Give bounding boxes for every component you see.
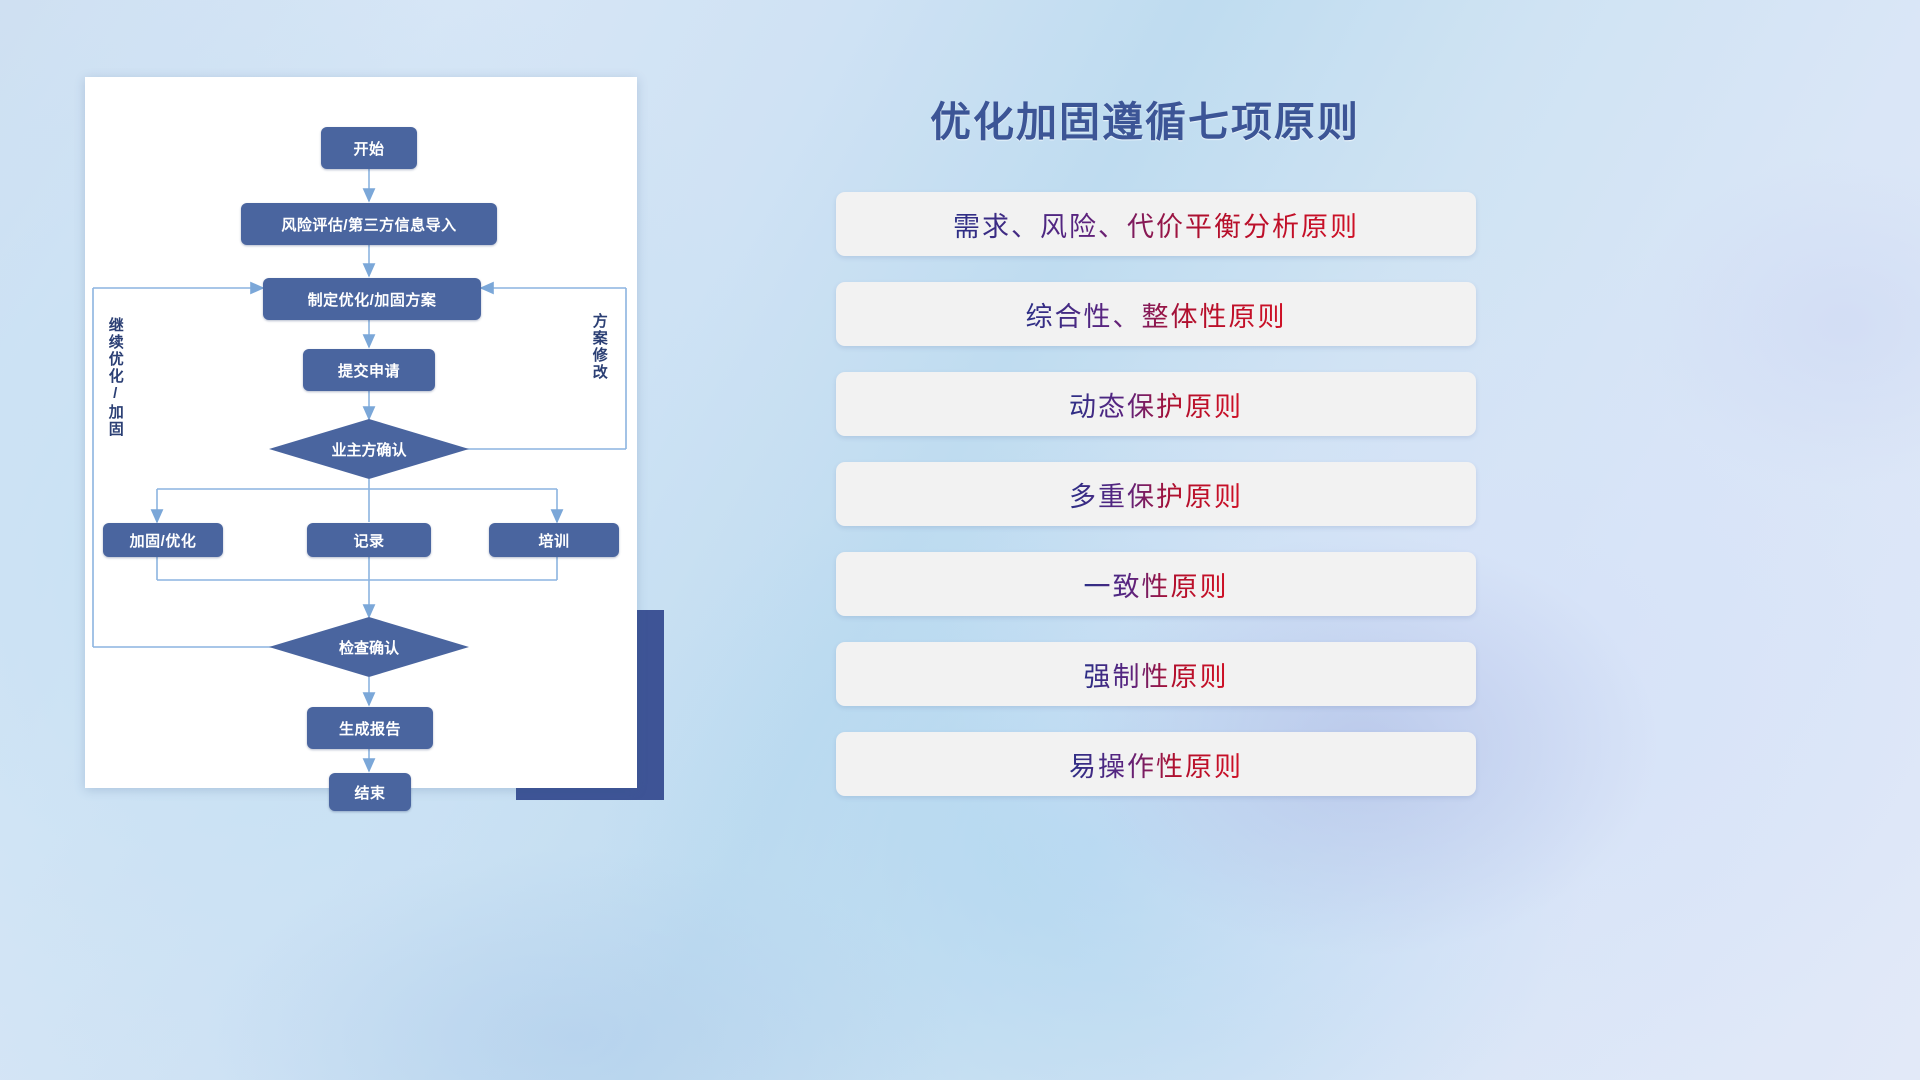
principle-label: 易操作性原则 bbox=[1069, 745, 1243, 784]
principle-item[interactable]: 易操作性原则 bbox=[836, 732, 1476, 796]
flow-edge-label-left: 继续优化/加固 bbox=[107, 317, 123, 438]
flow-edge-label-right: 方案修改 bbox=[591, 313, 607, 381]
flow-node-label: 开始 bbox=[353, 138, 384, 159]
principle-item[interactable]: 需求、风险、代价平衡分析原则 bbox=[836, 192, 1476, 256]
principle-item[interactable]: 强制性原则 bbox=[836, 642, 1476, 706]
flow-node-label: 培训 bbox=[538, 530, 569, 551]
principle-label: 强制性原则 bbox=[1084, 655, 1229, 694]
flow-node-label: 生成报告 bbox=[339, 718, 401, 739]
page-title: 优化加固遵循七项原则 bbox=[930, 88, 1490, 148]
flow-node-training[interactable]: 培训 bbox=[489, 523, 619, 557]
principle-item[interactable]: 综合性、整体性原则 bbox=[836, 282, 1476, 346]
principle-item[interactable]: 一致性原则 bbox=[836, 552, 1476, 616]
flow-node-label: 制定优化/加固方案 bbox=[308, 289, 437, 310]
principle-label: 动态保护原则 bbox=[1069, 385, 1243, 424]
flow-node-label: 风险评估/第三方信息导入 bbox=[281, 214, 456, 235]
flow-node-reinforce-optimize[interactable]: 加固/优化 bbox=[103, 523, 223, 557]
flow-node-record[interactable]: 记录 bbox=[307, 523, 431, 557]
flow-node-label: 检查确认 bbox=[339, 637, 399, 658]
flow-node-label: 业主方确认 bbox=[331, 439, 406, 460]
flow-node-label: 提交申请 bbox=[338, 360, 400, 381]
flow-node-label: 加固/优化 bbox=[130, 530, 197, 551]
flow-node-make-plan[interactable]: 制定优化/加固方案 bbox=[263, 278, 481, 320]
flow-node-submit-application[interactable]: 提交申请 bbox=[303, 349, 435, 391]
slide-background: 开始 风险评估/第三方信息导入 制定优化/加固方案 提交申请 业主方确认 加固/… bbox=[0, 0, 1920, 1080]
principle-item[interactable]: 动态保护原则 bbox=[836, 372, 1476, 436]
principle-label: 一致性原则 bbox=[1084, 565, 1229, 604]
flow-node-start[interactable]: 开始 bbox=[321, 127, 417, 169]
flowchart: 开始 风险评估/第三方信息导入 制定优化/加固方案 提交申请 业主方确认 加固/… bbox=[85, 77, 637, 788]
flow-node-label: 记录 bbox=[353, 530, 384, 551]
flow-node-risk-assessment[interactable]: 风险评估/第三方信息导入 bbox=[241, 203, 497, 245]
principle-label: 综合性、整体性原则 bbox=[1026, 295, 1287, 334]
flow-node-end[interactable]: 结束 bbox=[329, 773, 411, 811]
principles-list: 需求、风险、代价平衡分析原则 综合性、整体性原则 动态保护原则 多重保护原则 一… bbox=[836, 192, 1476, 822]
principle-label: 多重保护原则 bbox=[1069, 475, 1243, 514]
principle-label: 需求、风险、代价平衡分析原则 bbox=[953, 205, 1359, 244]
principle-item[interactable]: 多重保护原则 bbox=[836, 462, 1476, 526]
flow-node-generate-report[interactable]: 生成报告 bbox=[307, 707, 433, 749]
flowchart-card: 开始 风险评估/第三方信息导入 制定优化/加固方案 提交申请 业主方确认 加固/… bbox=[85, 77, 637, 788]
flow-node-label: 结束 bbox=[354, 782, 385, 803]
